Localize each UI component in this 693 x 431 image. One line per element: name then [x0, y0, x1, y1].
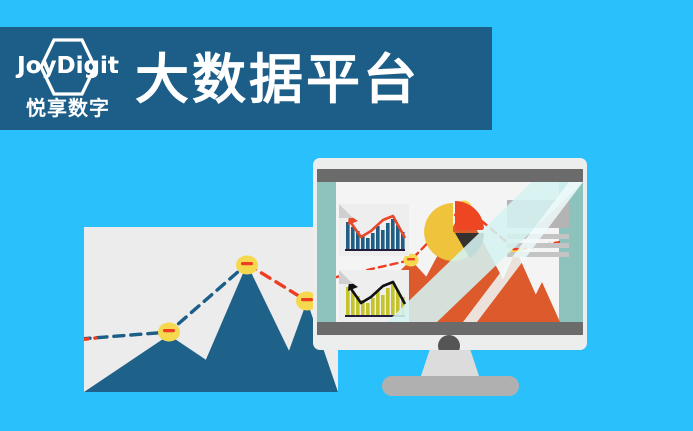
axis-line	[345, 249, 405, 251]
data-node-1[interactable]	[158, 323, 180, 342]
yellow-bar-chart	[339, 270, 409, 322]
page-title: 大数据平台	[135, 49, 420, 111]
bar-chart-card-blue[interactable]	[339, 204, 409, 256]
mountain-line-chart	[84, 227, 338, 392]
placeholder-line	[507, 234, 569, 239]
monitor-screen	[317, 182, 583, 322]
pie-chart[interactable]	[421, 200, 485, 264]
header-banner: JoyDigit 悦享数字 大数据平台	[0, 27, 492, 130]
monitor-top-bar	[317, 169, 583, 182]
content-placeholder	[507, 200, 569, 258]
data-node-2[interactable]	[236, 256, 258, 275]
logo-wordmark: JoyDigit	[12, 53, 124, 79]
poster-canvas: JoyDigit 悦享数字 大数据平台	[0, 0, 693, 431]
left-mountain-chart-panel	[84, 227, 338, 392]
axis-line	[345, 315, 405, 317]
monitor-bottom-bar	[317, 322, 583, 335]
brand-logo[interactable]: JoyDigit 悦享数字	[12, 35, 124, 123]
bar-chart-card-yellow[interactable]	[339, 270, 409, 322]
placeholder-line	[507, 252, 569, 257]
blue-bar-chart	[339, 204, 409, 256]
desktop-monitor	[313, 158, 587, 350]
pie-slice-b	[455, 201, 484, 230]
monitor-stand-base	[382, 376, 519, 396]
monitor-stand-neck	[420, 350, 480, 379]
placeholder-image	[507, 200, 569, 228]
screen-left-band	[317, 182, 336, 322]
placeholder-line	[507, 243, 569, 248]
logo-subtext: 悦享数字	[12, 92, 124, 121]
